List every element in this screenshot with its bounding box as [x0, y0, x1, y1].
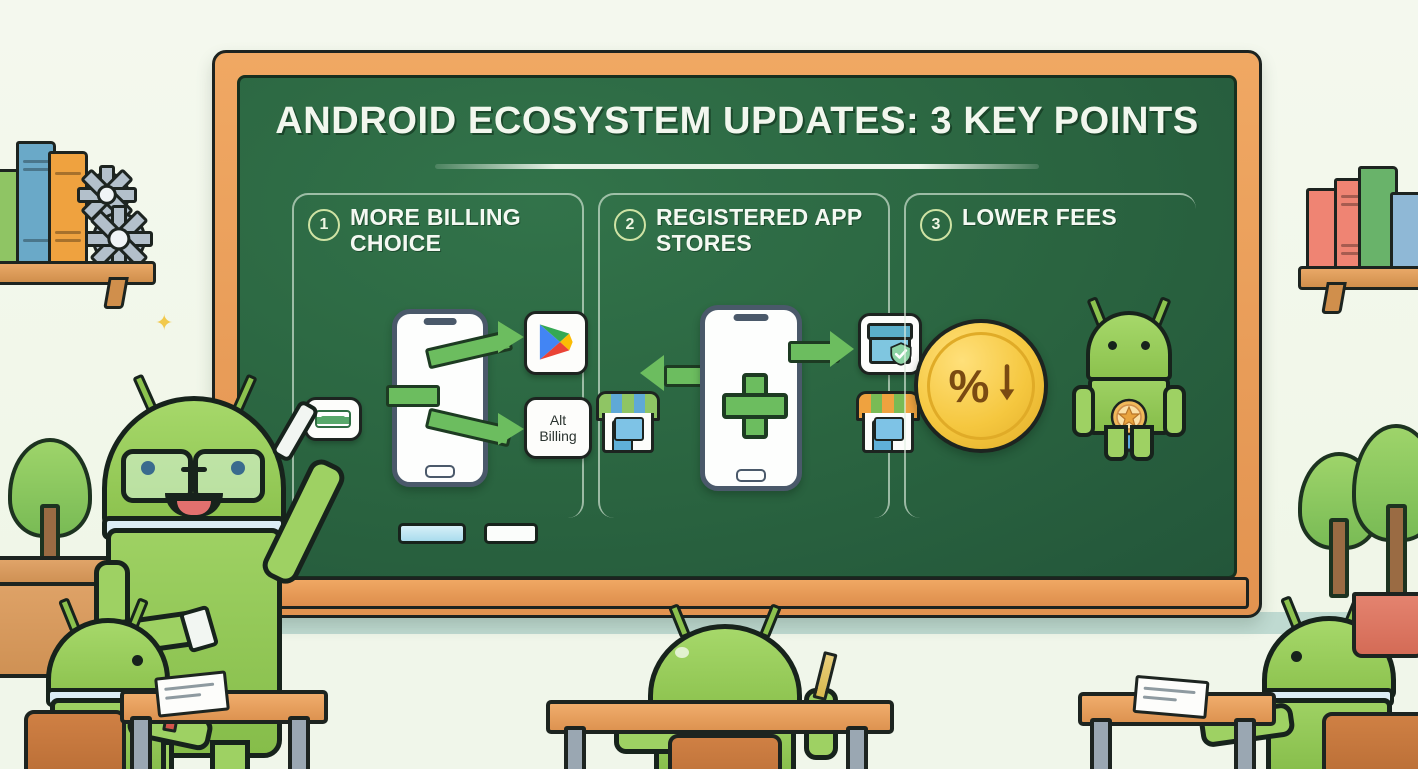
glasses-icon: [121, 449, 265, 493]
column-title: LOWER FEES: [962, 205, 1117, 231]
shelf-plank: [1298, 266, 1418, 290]
chalkboard-surface: ANDROID ECOSYSTEM UPDATES: 3 KEY POINTS …: [237, 75, 1237, 579]
key-point-3: 3 LOWER FEES %: [898, 193, 1204, 536]
column-header: 3 LOWER FEES: [902, 193, 1200, 241]
desk-center: [546, 700, 886, 769]
android-award-robot: [1076, 311, 1182, 457]
column-header: 1 MORE BILLING CHOICE: [290, 193, 588, 257]
paper: [1132, 675, 1209, 719]
step-number-badge: 3: [920, 209, 952, 241]
arrow-head-icon: [498, 321, 524, 353]
desk-left: [120, 690, 320, 769]
right-bookshelf: [1298, 180, 1418, 290]
gear-icon: [92, 212, 146, 266]
desk-right: [1078, 692, 1268, 769]
chalk-eraser: [398, 523, 466, 544]
smartphone-with-plus: [700, 305, 802, 491]
storefront-icon: [596, 391, 660, 453]
arrow-head-icon: [640, 355, 664, 391]
key-points-columns: 1 MORE BILLING CHOICE: [286, 193, 1204, 536]
google-play-icon: [524, 311, 588, 375]
column-3-illustration: %: [898, 305, 1204, 495]
tree: [1352, 424, 1418, 594]
coin-percent-symbol: %: [918, 359, 1044, 413]
step-number-badge: 1: [308, 209, 340, 241]
column-header: 2 REGISTERED APP STORES: [596, 193, 894, 257]
alt-billing-card: Alt Billing: [524, 397, 592, 459]
chalkboard: ANDROID ECOSYSTEM UPDATES: 3 KEY POINTS …: [212, 50, 1262, 618]
key-point-2: 2 REGISTERED APP STORES: [592, 193, 898, 536]
chair: [1322, 712, 1418, 769]
title-underline: [435, 164, 1039, 169]
paper: [154, 670, 230, 717]
plant-pot: [1352, 592, 1418, 658]
plus-icon: [722, 373, 780, 431]
teacher-head: [102, 396, 286, 528]
branch-arrow-stem: [386, 385, 440, 407]
chalk-stick: [484, 523, 538, 544]
smile: [165, 493, 223, 517]
alt-billing-line-2: Billing: [527, 428, 589, 444]
column-title: MORE BILLING CHOICE: [350, 205, 565, 257]
arrow-head-icon: [830, 331, 854, 367]
arrow-head-icon: [498, 413, 524, 445]
column-title: REGISTERED APP STORES: [656, 205, 871, 257]
shelf-plank: [0, 261, 156, 285]
step-number-badge: 2: [614, 209, 646, 241]
chair: [24, 710, 126, 769]
left-bookshelf: [0, 130, 156, 285]
percent-down-coin-icon: %: [914, 319, 1048, 453]
column-2-illustration: [592, 305, 898, 495]
page-title: ANDROID ECOSYSTEM UPDATES: 3 KEY POINTS: [240, 100, 1234, 143]
classroom-scene: ✦ ✦ ANDROID ECOSYSTEM UPDATES: 3 KEY POI…: [0, 0, 1418, 769]
book: [1390, 192, 1418, 272]
sparkle-icon: ✦: [155, 310, 173, 336]
alt-billing-line-1: Alt: [527, 412, 589, 428]
